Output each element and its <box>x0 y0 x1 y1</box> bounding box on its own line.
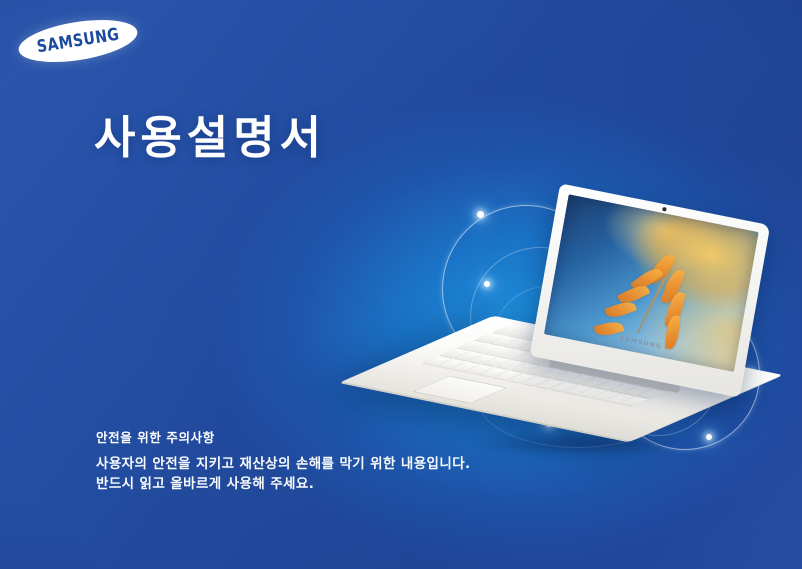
safety-heading: 안전을 위한 주의사항 <box>96 427 471 446</box>
manual-cover-page: SAMSUNG SAMSUNG 사용설명서 안전을 위한 주의사항 사용자의 안… <box>0 0 802 569</box>
laptop-screen: SAMSUNG <box>544 194 759 372</box>
safety-line-1: 사용자의 안전을 지키고 재산상의 손해를 막기 위한 내용입니다. <box>96 455 471 475</box>
safety-notice-block: 안전을 위한 주의사항 사용자의 안전을 지키고 재산상의 손해를 막기 위한 … <box>96 427 471 494</box>
laptop-trackpad <box>412 376 507 404</box>
screen-bezel-brand: SAMSUNG <box>619 335 663 350</box>
samsung-logo: SAMSUNG <box>18 22 138 60</box>
safety-line-2: 반드시 읽고 올바르게 사용해 주세요. <box>96 475 471 495</box>
laptop-illustration: SAMSUNG <box>400 195 800 455</box>
samsung-logo-text: SAMSUNG <box>16 13 140 69</box>
samsung-logo-wordmark: SAMSUNG <box>35 25 120 58</box>
page-title: 사용설명서 <box>94 114 326 161</box>
webcam-icon <box>662 207 667 212</box>
